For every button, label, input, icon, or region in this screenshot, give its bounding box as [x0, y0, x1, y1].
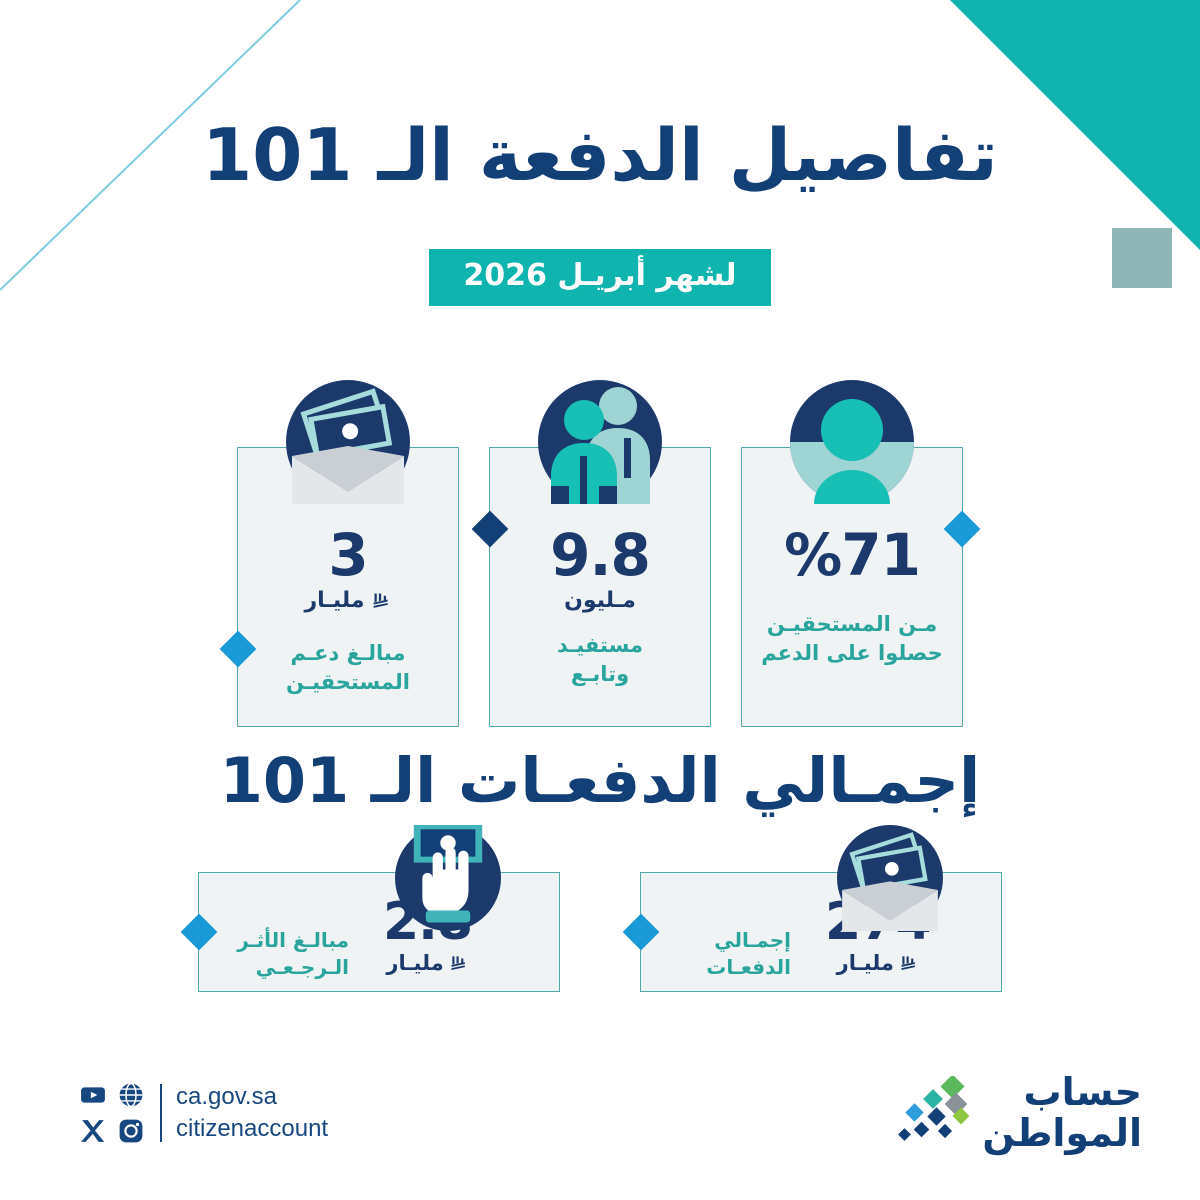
saudi-riyal-icon: [899, 953, 919, 973]
stat-caption-line2: حصلوا على الدعم: [761, 639, 943, 668]
stat-caption-line1: مستفيـد: [557, 631, 643, 660]
money-envelope-icon: [837, 825, 943, 931]
instagram-icon[interactable]: [118, 1118, 144, 1144]
stat-caption: مبالـغ دعـم المستحقيـن: [278, 639, 418, 697]
footer-handle-link[interactable]: citizenaccount: [176, 1115, 328, 1143]
stat-unit-label: مليـار: [304, 588, 364, 613]
card-diamond-marker: [220, 631, 257, 668]
footer-website-link[interactable]: ca.gov.sa: [176, 1083, 328, 1111]
total-caption-line1: مبالـغ الأثـر: [199, 927, 349, 954]
totals-section-title: إجمـالي الدفعـات الـ 101: [0, 748, 1200, 813]
page-title: تفاصيل الدفعة الـ 101: [0, 118, 1200, 194]
stat-value: 3: [328, 526, 367, 584]
card-diamond-marker: [944, 511, 981, 548]
stat-value: 9.8: [550, 526, 650, 584]
brand-line-1: حساب: [982, 1072, 1142, 1113]
stat-unit-label: مـليون: [564, 588, 636, 613]
stat-card-row: %71 مـن المستحقيـن حصلوا على الدعم 9.8: [0, 447, 1200, 732]
stat-caption: مستفيـد وتابـع: [549, 631, 651, 689]
subtitle-container: لشهر أبريـل 2026: [0, 249, 1200, 306]
x-twitter-icon[interactable]: [80, 1118, 106, 1144]
total-caption: مبالـغ الأثـر الـرجـعـي: [199, 927, 349, 981]
total-caption: إجمـالي الدفعـات: [641, 927, 791, 981]
saudi-riyal-icon: [449, 953, 469, 973]
hand-cash-icon: [395, 825, 501, 931]
totals-card-row: إجمـالي الدفعـات 274 مليـار: [0, 872, 1200, 1012]
card-diamond-marker: [472, 511, 509, 548]
total-unit: مليـار: [837, 951, 919, 975]
brand-logo-text: حساب المواطن: [982, 1072, 1142, 1154]
total-unit-label: مليـار: [386, 951, 443, 975]
brand-logo: حساب المواطن: [882, 1072, 1142, 1154]
stat-caption-line2: وتابـع: [557, 660, 643, 689]
stat-card-beneficiaries: 9.8 مـليون مستفيـد وتابـع: [489, 447, 711, 727]
stat-card-percent: %71 مـن المستحقيـن حصلوا على الدعم: [741, 447, 963, 727]
stat-caption: مـن المستحقيـن حصلوا على الدعم: [753, 610, 951, 668]
total-unit: مليـار: [386, 951, 468, 975]
brand-line-2: المواطن: [982, 1113, 1142, 1154]
stat-card-support-amount: 3 مليـار مبالـغ دعـم المستحقيـن: [237, 447, 459, 727]
total-caption-line1: إجمـالي: [641, 927, 791, 954]
total-caption-line2: الـرجـعـي: [199, 954, 349, 981]
stat-value: %71: [784, 526, 920, 584]
two-people-icon: [538, 380, 662, 504]
stat-caption-line1: مـن المستحقيـن: [761, 610, 943, 639]
total-card-all-payments: إجمـالي الدفعـات 274 مليـار: [640, 872, 1002, 992]
footer-divider: [160, 1084, 162, 1142]
total-caption-line2: الدفعـات: [641, 954, 791, 981]
total-card-retroactive: مبالـغ الأثـر الـرجـعـي 2.8: [198, 872, 560, 992]
globe-icon[interactable]: [118, 1082, 144, 1108]
social-icons-group: [78, 1080, 146, 1146]
infographic-canvas: تفاصيل الدفعة الـ 101 لشهر أبريـل 2026 %…: [0, 0, 1200, 1200]
youtube-icon[interactable]: [80, 1082, 106, 1108]
brand-dots-icon: [882, 1076, 974, 1150]
total-unit-label: مليـار: [837, 951, 894, 975]
stat-unit: مليـار: [304, 588, 391, 613]
stat-unit: مـليون: [564, 588, 636, 613]
saudi-riyal-icon: [371, 590, 392, 611]
money-envelope-icon: [286, 380, 410, 504]
footer-links: ca.gov.sa citizenaccount: [176, 1083, 328, 1142]
footer-contact: ca.gov.sa citizenaccount: [78, 1080, 328, 1146]
stat-caption-line1: مبالـغ دعـم: [286, 639, 410, 668]
subtitle-badge: لشهر أبريـل 2026: [429, 249, 770, 306]
beneficiary-person-icon: [790, 380, 914, 504]
stat-caption-line2: المستحقيـن: [286, 668, 410, 697]
